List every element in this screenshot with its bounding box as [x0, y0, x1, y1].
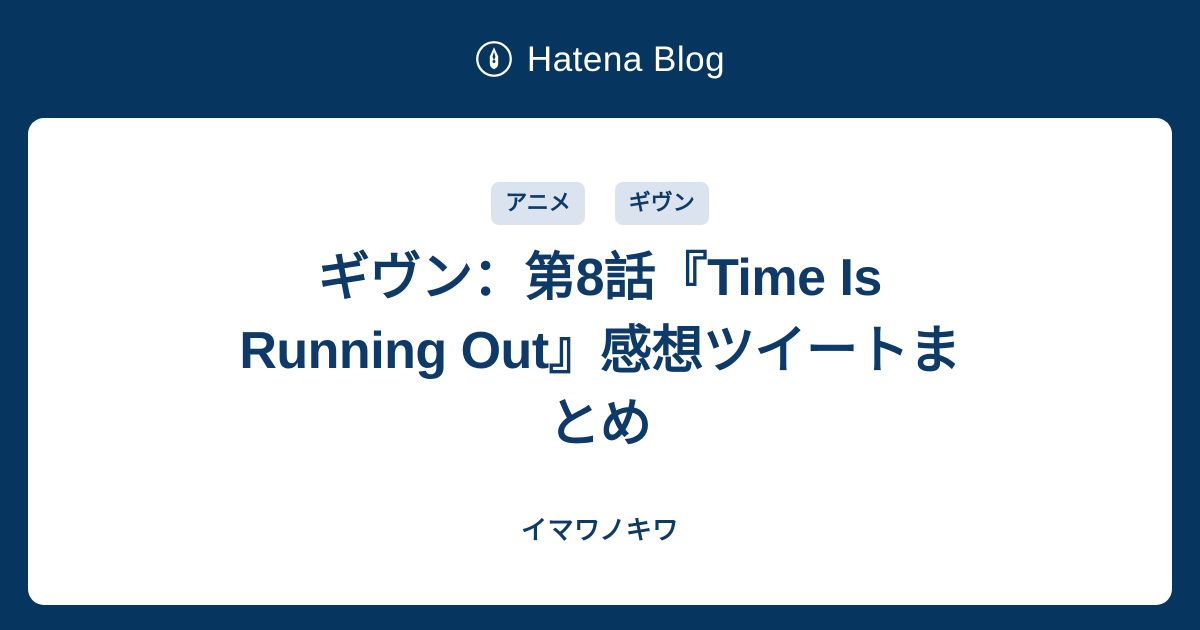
hatena-pen-nib-icon — [475, 40, 513, 78]
entry-tag-anime[interactable]: アニメ — [491, 182, 585, 225]
entry-card: アニメ ギヴン ギヴン：第8話『Time Is Running Out』感想ツイ… — [28, 118, 1172, 605]
hatena-blog-og-card: Hatena Blog アニメ ギヴン ギヴン：第8話『Time Is Runn… — [0, 0, 1200, 630]
entry-title[interactable]: ギヴン：第8話『Time Is Running Out』感想ツイートまとめ — [220, 242, 980, 460]
brand-name: Hatena Blog — [527, 42, 725, 77]
hatena-blog-brand: Hatena Blog — [0, 0, 1200, 118]
entry-tag-list: アニメ ギヴン — [491, 184, 709, 222]
blog-name[interactable]: イマワノキワ — [28, 517, 1172, 543]
entry-tag-given[interactable]: ギヴン — [615, 182, 709, 225]
